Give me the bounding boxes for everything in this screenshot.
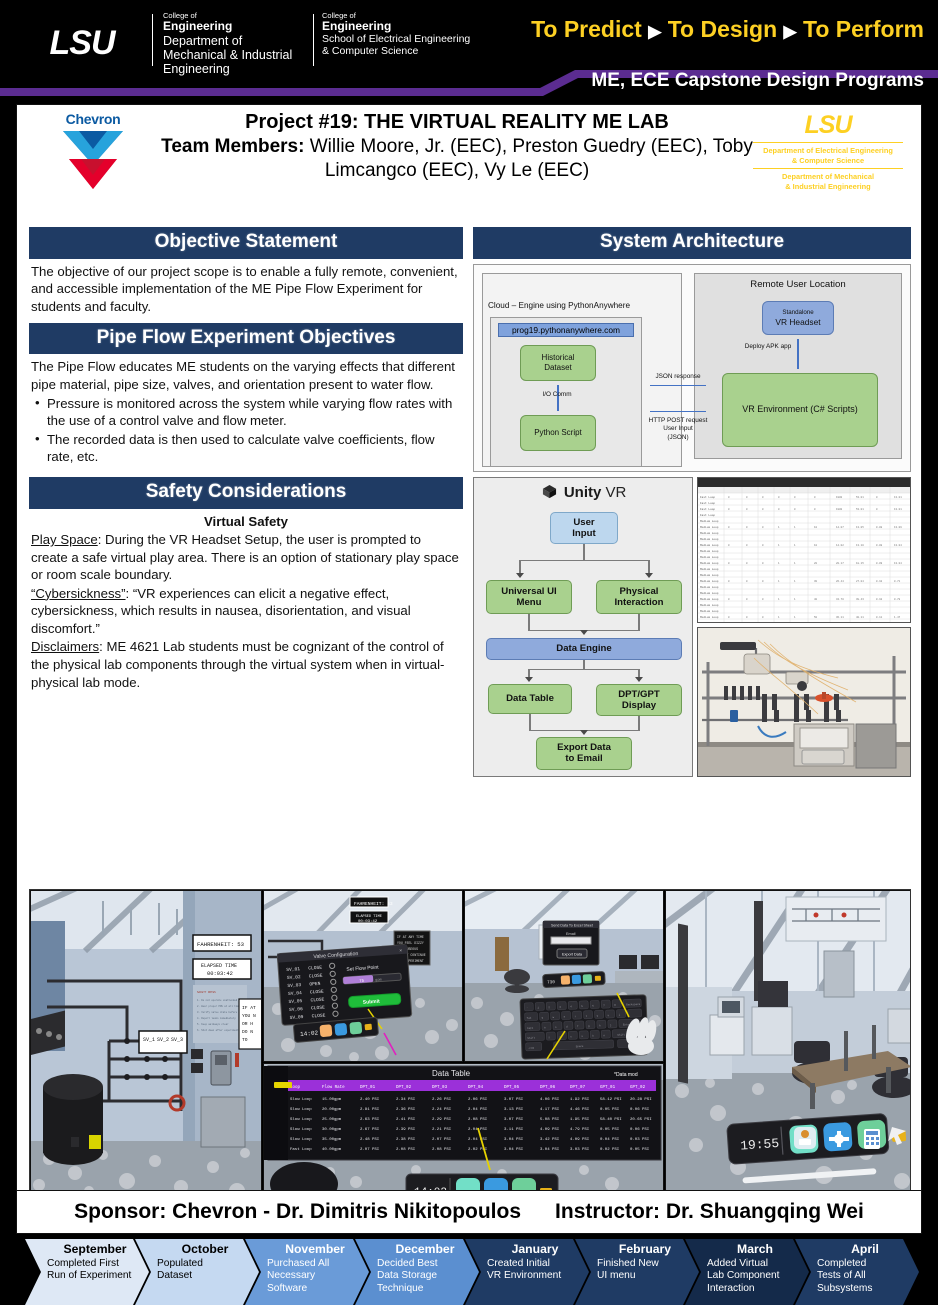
svg-text:IF AT: IF AT (242, 1005, 256, 1011)
page-title: Project #19: THE VIRTUAL REALITY ME LAB (157, 110, 757, 134)
svg-text:13.05: 13.05 (856, 526, 864, 529)
svg-text:0.10: 0.10 (876, 598, 883, 601)
vr-data-table-title: Data Table (432, 1069, 471, 1078)
lsu-logo-unit-me: Department of Mechanical & Industrial En… (753, 168, 903, 191)
objective-body: The objective of our project scope is to… (29, 259, 463, 323)
svg-text:20.00gpm: 20.00gpm (322, 1108, 342, 1112)
svg-text:DPT_03: DPT_03 (432, 1086, 448, 1090)
svg-text:Slow Loop: Slow Loop (290, 1107, 312, 1112)
svg-text:DPT_01: DPT_01 (360, 1086, 376, 1090)
dept2-line3: School of Electrical Engineering (322, 34, 522, 46)
dept2-line2: Engineering (322, 20, 522, 33)
flow-node-user-input: User Input (550, 512, 618, 544)
svg-text:2.41 PSI: 2.41 PSI (396, 1118, 415, 1122)
svg-text:SV_03: SV_03 (287, 982, 301, 989)
lsu-ece-line2: & Computer Science (753, 156, 903, 166)
svg-text:SV_04: SV_04 (288, 990, 302, 997)
svg-text:2.36 PSI: 2.36 PSI (396, 1108, 415, 1112)
svg-text:0.71: 0.71 (894, 580, 901, 583)
svg-text:ELAPSED TIME: ELAPSED TIME (356, 915, 382, 919)
timeline-step-september: September Completed First Run of Experim… (25, 1239, 149, 1305)
tagline-predict: To Predict (531, 16, 642, 42)
svg-text:Medium Loop: Medium Loop (700, 567, 719, 571)
unity-cube-icon (542, 484, 557, 499)
svg-text:3.07 PSI: 3.07 PSI (504, 1098, 523, 1102)
flow-line-3 (519, 560, 521, 574)
svg-text:730: 730 (547, 980, 556, 985)
timeline-step-april: April Completed Tests of All Subsystems (795, 1239, 919, 1305)
section-heading-objective: Objective Statement (29, 227, 463, 259)
capstone-programs-label: ME, ECE Capstone Design Programs (591, 70, 924, 92)
svg-text:SAFETY NOTES: SAFETY NOTES (197, 991, 216, 994)
svg-text:1900: 1900 (836, 496, 843, 499)
svg-text:00:03:42: 00:03:42 (358, 920, 378, 924)
safety-item-playspace: Play Space: During the VR Headset Setup,… (31, 531, 461, 584)
svg-text:Fast Loop: Fast Loop (700, 514, 715, 517)
pipeflow-bullet-list: Pressure is monitored across the system … (31, 395, 461, 466)
json-response-label: JSON response (646, 373, 710, 381)
svg-text:14.02: 14.02 (836, 544, 844, 547)
svg-text:27.04: 27.04 (856, 580, 864, 583)
svg-text:4. Report leaks immediately: 4. Report leaks immediately (197, 1017, 236, 1020)
svg-text:SV_3: SV_3 (171, 1037, 183, 1043)
safety-item-cybersickness: “Cybersickness”: “VR experiences can eli… (31, 585, 461, 638)
flow-arrow-2 (645, 573, 653, 578)
safety-term-disclaimers: Disclaimers (31, 639, 99, 654)
svg-text:4.06 PSI: 4.06 PSI (540, 1098, 559, 1102)
svg-text:30: 30 (814, 580, 818, 583)
svg-text:14.07: 14.07 (836, 526, 844, 529)
svg-text:40.11: 40.11 (856, 616, 864, 619)
svg-text:.com: .com (528, 1047, 535, 1050)
svg-text:0.05 PSI: 0.05 PSI (600, 1128, 619, 1132)
svg-text:13.01: 13.01 (894, 508, 902, 511)
svg-text:OPEN: OPEN (309, 981, 321, 988)
headset-sub-label: Standalone (782, 309, 813, 317)
svg-text:Shift: Shift (617, 1032, 625, 1036)
svg-text:OR H: OR H (242, 1021, 253, 1027)
svg-text:20.28 PSI: 20.28 PSI (630, 1098, 652, 1102)
tagline: To Predict ▶ To Design ▶ To Perform (531, 16, 924, 43)
svg-text:75: 75 (359, 980, 365, 984)
flow-arrow-4 (525, 677, 533, 682)
dept1-line2: Engineering (163, 20, 343, 33)
list-item: Pressure is monitored across the system … (31, 395, 461, 430)
chevron-right-icon-2: ▶ (784, 22, 797, 41)
svg-text:0.10: 0.10 (876, 580, 883, 583)
svg-text:CLOSE: CLOSE (310, 996, 324, 1003)
list-item: The recorded data is then used to calcul… (31, 431, 461, 466)
svg-text:Medium Loop: Medium Loop (700, 591, 719, 595)
headset-label: VR Headset (775, 317, 820, 328)
timeline-detail: Populated Dataset (157, 1258, 253, 1284)
svg-text:Medium Loop: Medium Loop (700, 609, 719, 613)
dept-mechanical-block: College of Engineering Department of Mec… (163, 12, 343, 76)
spreadsheet-graphic: Fast LoopFast Loop Fast LoopFast Loop Me… (698, 478, 911, 623)
lsu-logo-mark: LSU (753, 113, 903, 138)
svg-text:1. Do not operate unattended: 1. Do not operate unattended (197, 999, 238, 1002)
svg-text:Medium Loop: Medium Loop (700, 519, 719, 523)
flow-arrow-6 (580, 730, 588, 735)
svg-text:20: 20 (814, 562, 818, 565)
vr-screenshot-office-view: 19:55 (665, 890, 911, 1231)
svg-text:Caps: Caps (527, 1027, 534, 1030)
svg-text:×: × (399, 948, 402, 954)
svg-text:Medium Loop: Medium Loop (700, 603, 719, 607)
node-python-script: Python Script (520, 415, 596, 451)
svg-text:Medium Loop: Medium Loop (700, 585, 719, 589)
svg-text:CLOSE: CLOSE (310, 989, 324, 996)
svg-text:DPT_04: DPT_04 (468, 1086, 484, 1090)
svg-text:Fast Loop: Fast Loop (290, 1148, 312, 1152)
banner-divider-1 (152, 14, 153, 66)
flow-arrow-3 (580, 630, 588, 635)
flow-line-2 (519, 560, 649, 562)
remote-user-location-label: Remote User Location (694, 279, 902, 290)
svg-text:Fast Loop: Fast Loop (700, 502, 715, 505)
export-dialog-title: Send Data To Excel Sheet (551, 924, 593, 928)
svg-text:Medium Loop: Medium Loop (700, 561, 719, 565)
project-title-block: Project #19: THE VIRTUAL REALITY ME LAB … (157, 110, 757, 182)
svg-text:00:03:42: 00:03:42 (207, 971, 233, 977)
svg-text:38.43: 38.43 (856, 598, 864, 601)
system-architecture-diagram: Cloud – Engine using PythonAnywhere prog… (473, 264, 911, 472)
svg-text:Slow Loop: Slow Loop (290, 1097, 312, 1102)
svg-text:2.29 PSI: 2.29 PSI (432, 1118, 451, 1122)
section-heading-safety: Safety Considerations (29, 477, 463, 509)
svg-text:10: 10 (814, 526, 818, 529)
svg-text:26.44: 26.44 (836, 580, 844, 583)
svg-text:5.08 PSI: 5.08 PSI (540, 1118, 559, 1122)
vr-screenshot-export-email: Send Data To Excel Sheet Email Export Da… (464, 890, 664, 1062)
lsu-wordmark-banner: LSU (22, 22, 142, 64)
flow-line-12 (529, 714, 531, 731)
team-members-names: Willie Moore, Jr. (EEC), Preston Guedry … (310, 136, 753, 181)
svg-text:2.08 PSI: 2.08 PSI (468, 1118, 487, 1122)
safety-body: Virtual Safety Play Space: During the VR… (29, 509, 463, 698)
svg-text:2.26 PSI: 2.26 PSI (432, 1098, 451, 1102)
svg-text:40: 40 (814, 598, 818, 601)
svg-text:0.04 PSI: 0.04 PSI (600, 1138, 619, 1142)
flow-node-data-engine: Data Engine (486, 638, 682, 660)
flow-line-5 (528, 614, 530, 631)
flow-line-9 (528, 669, 640, 671)
svg-text:10: 10 (814, 544, 818, 547)
deploy-arrow-line (797, 339, 799, 369)
svg-text:2.07 PSI: 2.07 PSI (360, 1148, 379, 1152)
svg-text:1.92 PSI: 1.92 PSI (570, 1098, 589, 1102)
dept-electrical-block: College of Engineering School of Electri… (322, 12, 522, 57)
svg-text:34.70: 34.70 (836, 598, 844, 601)
section-heading-pipeflow: Pipe Flow Experiment Objectives (29, 323, 463, 355)
cloud-zone-label: Cloud – Engine using PythonAnywhere (488, 301, 630, 310)
unity-title-bold: Unity (564, 484, 602, 501)
svg-text:4.09 PSI: 4.09 PSI (540, 1128, 559, 1132)
unity-title-light: VR (606, 484, 627, 501)
svg-text:53.01: 53.01 (856, 496, 864, 499)
vr-screenshot-gallery: SV_1SV_2SV_3 FAHRENHEIT: 53 ELAPSED TIME… (29, 889, 911, 1231)
node-historical-dataset: Historical Dataset (520, 345, 596, 381)
svg-text:2.07 PSI: 2.07 PSI (432, 1138, 451, 1142)
svg-text:0.08: 0.08 (876, 544, 883, 547)
poster-header-row: Chevron Project #19: THE VIRTUAL REALITY… (17, 105, 921, 209)
chevron-logo: Chevron (47, 111, 139, 203)
timeline-step-january: January Created Initial VR Environment (465, 1239, 589, 1305)
chevron-right-icon-1: ▶ (648, 22, 661, 41)
svg-text:gpm: gpm (375, 978, 382, 982)
svg-text:DPT_07: DPT_07 (570, 1086, 586, 1090)
svg-text:4.09 PSI: 4.09 PSI (570, 1138, 589, 1142)
svg-text:13.01: 13.01 (894, 496, 902, 499)
dept1-line3: Department of (163, 34, 343, 48)
flow-arrow-1 (516, 573, 524, 578)
svg-text:5. Keep walkways clear: 5. Keep walkways clear (197, 1023, 229, 1026)
lsu-me-line1: Department of Mechanical (753, 172, 903, 182)
svg-text:13.04: 13.04 (894, 562, 902, 565)
svg-text:YOU N: YOU N (242, 1013, 256, 1019)
flow-node-dpt-gpt-display: DPT/GPT Display (596, 684, 682, 716)
svg-text:Space: Space (576, 1045, 584, 1048)
svg-text:1.47: 1.47 (894, 616, 901, 619)
node-vr-headset: Standalone VR Headset (762, 301, 834, 335)
svg-text:DPT_06: DPT_06 (540, 1086, 556, 1090)
svg-text:2.08 PSI: 2.08 PSI (432, 1148, 451, 1152)
io-comm-label: I/O Comm (524, 391, 590, 399)
pipeflow-body: The Pipe Flow educates ME students on th… (29, 354, 463, 472)
svg-text:30.00gpm: 30.00gpm (322, 1128, 342, 1132)
physical-lab-photograph (697, 627, 911, 777)
safety-item-disclaimers: Disclaimers: ME 4621 Lab students must b… (31, 638, 461, 691)
svg-text:2. Wear proper PPE at all time: 2. Wear proper PPE at all times (197, 1005, 242, 1008)
svg-text:35.00gpm: 35.00gpm (322, 1138, 342, 1142)
svg-text:SV_1: SV_1 (143, 1037, 155, 1043)
flow-line-6 (638, 614, 640, 631)
vr-watch-time-5: 19:55 (740, 1136, 780, 1154)
right-column: System Architecture Cloud – Engine using… (473, 227, 911, 777)
flow-node-physical-interaction: Physical Interaction (596, 580, 682, 614)
safety-term-playspace: Play Space (31, 532, 98, 547)
chevron-logo-text: Chevron (47, 111, 139, 127)
vr-office-view-graphic: 19:55 (666, 891, 911, 1231)
deploy-apk-label: Deploy APK app (742, 343, 794, 351)
svg-text:2.38 PSI: 2.38 PSI (396, 1138, 415, 1142)
safety-subheading: Virtual Safety (31, 513, 461, 531)
svg-text:0.05 PSI: 0.05 PSI (600, 1108, 619, 1112)
dept2-line4: & Computer Science (322, 46, 522, 58)
svg-text:2.08 PSI: 2.08 PSI (396, 1148, 415, 1152)
svg-text:SV_06: SV_06 (289, 1006, 303, 1013)
svg-text:GPT_01: GPT_01 (600, 1086, 616, 1090)
svg-text:YOU FEEL DIZZY: YOU FEEL DIZZY (397, 941, 424, 945)
flow-arrow-5 (635, 677, 643, 682)
svg-text:Medium Loop: Medium Loop (700, 531, 719, 535)
svg-text:SV_01: SV_01 (286, 966, 300, 973)
svg-text:0.09: 0.09 (876, 562, 883, 565)
svg-text:2.21 PSI: 2.21 PSI (432, 1128, 451, 1132)
svg-text:18.15: 18.15 (856, 562, 864, 565)
svg-text:2.39 PSI: 2.39 PSI (396, 1128, 415, 1132)
svg-text:3.04 PSI: 3.04 PSI (504, 1148, 523, 1152)
timeline-step-february: February Finished New UI menu (575, 1239, 699, 1305)
svg-text:4.17 PSI: 4.17 PSI (540, 1108, 559, 1112)
svg-text:CLOSE: CLOSE (309, 973, 323, 980)
svg-text:0.78: 0.78 (894, 598, 901, 601)
svg-text:2.40 PSI: 2.40 PSI (360, 1098, 379, 1102)
svg-text:DPT_02: DPT_02 (396, 1086, 412, 1090)
flow-line-4 (648, 560, 650, 574)
svg-text:Slow Loop: Slow Loop (290, 1127, 312, 1132)
svg-text:50: 50 (814, 616, 818, 619)
svg-text:Medium Loop: Medium Loop (700, 543, 719, 547)
email-field-label: Email (566, 932, 576, 936)
project-timeline: September Completed First Run of Experim… (25, 1239, 915, 1305)
svg-text:SV_09: SV_09 (289, 1014, 303, 1021)
timeline-detail: Purchased All Necessary Software (267, 1258, 363, 1296)
url-bar: prog19.pythonanywhere.com (498, 323, 634, 337)
svg-text:Slow Loop: Slow Loop (290, 1137, 312, 1142)
svg-text:Medium Loop: Medium Loop (700, 615, 719, 619)
svg-text:15.00gpm: 15.00gpm (322, 1098, 342, 1102)
svg-text:0.08: 0.08 (876, 526, 883, 529)
svg-text:Backspace: Backspace (626, 1002, 641, 1007)
node-vr-environment: VR Environment (C# Scripts) (722, 373, 878, 447)
tagline-design: To Design (668, 16, 777, 42)
svg-text:3.11 PSI: 3.11 PSI (504, 1128, 523, 1132)
svg-text:0.03 PSI: 0.03 PSI (630, 1138, 649, 1142)
vr-screenshot-valve-config: FAHRENHEIT: 53 ELAPSED TIME 00:03:42 IF … (263, 890, 463, 1062)
vr-lab-room-graphic: SV_1SV_2SV_3 FAHRENHEIT: 53 ELAPSED TIME… (31, 891, 262, 1231)
timeline-step-november: November Purchased All Necessary Softwar… (245, 1239, 369, 1305)
timeline-detail: Finished New UI menu (597, 1258, 693, 1284)
vr-export-email-graphic: Send Data To Excel Sheet Email Export Da… (465, 891, 664, 1062)
http-post-label: HTTP POST request User Input (JSON) (642, 417, 714, 442)
lsu-logo-unit-ece: Department of Electrical Engineering & C… (753, 142, 903, 165)
poster-footer: Sponsor: Chevron - Dr. Dimitris Nikitopo… (16, 1190, 922, 1234)
svg-text:CLOSE: CLOSE (311, 1004, 325, 1011)
svg-text:4.46 PSI: 4.46 PSI (570, 1108, 589, 1112)
timeline-detail: Created Initial VR Environment (487, 1258, 583, 1284)
unity-flow-diagram: Unity VR User Input Universal UI Menu Ph… (473, 477, 693, 777)
svg-text:2.06 PSI: 2.06 PSI (468, 1098, 487, 1102)
flow-and-images-row: Unity VR User Input Universal UI Menu Ph… (473, 477, 911, 777)
svg-text:Medium Loop: Medium Loop (700, 573, 719, 577)
svg-text:58.40 PSI: 58.40 PSI (600, 1118, 622, 1122)
svg-text:Medium Loop: Medium Loop (700, 525, 719, 529)
timeline-detail: Decided Best Data Storage Technique (377, 1258, 473, 1296)
lsu-me-line2: & Industrial Engineering (753, 182, 903, 192)
svg-text:0.02 PSI: 0.02 PSI (600, 1148, 619, 1152)
svg-text:2.34 PSI: 2.34 PSI (396, 1098, 415, 1102)
left-column: Objective Statement The objective of our… (29, 227, 463, 698)
svg-text:CLOSE: CLOSE (308, 965, 322, 972)
svg-text:2.67 PSI: 2.67 PSI (360, 1128, 379, 1132)
lab-photo-graphic (698, 628, 911, 777)
export-data-button-label: Export Data (562, 953, 583, 957)
svg-text:Medium Loop: Medium Loop (700, 579, 719, 583)
unity-vr-title: Unity VR (474, 484, 694, 501)
lsu-ece-line1: Department of Electrical Engineering (753, 146, 903, 156)
svg-text:CLOSE: CLOSE (311, 1012, 325, 1019)
svg-text:SV_05: SV_05 (288, 998, 302, 1005)
svg-text:1900: 1900 (836, 508, 843, 511)
svg-text:IF AT ANY TIME: IF AT ANY TIME (397, 935, 424, 939)
svg-text:Medium Loop: Medium Loop (700, 597, 719, 601)
svg-text:*Data mod: *Data mod (614, 1072, 638, 1078)
json-response-line (650, 385, 706, 387)
flow-line-13 (638, 716, 640, 731)
timeline-detail: Completed First Run of Experiment (47, 1258, 143, 1284)
svg-text:Slow Loop: Slow Loop (290, 1117, 312, 1122)
svg-text:TO: TO (242, 1037, 248, 1043)
flow-line-1 (583, 544, 585, 560)
svg-text:FAHRENHEIT: 53: FAHRENHEIT: 53 (354, 901, 393, 907)
timeline-detail: Added Virtual Lab Component Interaction (707, 1258, 803, 1296)
banner-divider-2 (313, 14, 314, 66)
svg-text:20.17: 20.17 (836, 562, 844, 565)
svg-text:25.00gpm: 25.00gpm (322, 1118, 342, 1122)
svg-text:20.65 PSI: 20.65 PSI (630, 1118, 652, 1122)
poster-columns: Objective Statement The objective of our… (17, 209, 923, 1227)
svg-text:2.24 PSI: 2.24 PSI (432, 1108, 451, 1112)
lsu-college-logo: LSU Department of Electrical Engineering… (753, 113, 903, 192)
svg-text:3.13 PSI: 3.13 PSI (504, 1108, 523, 1112)
svg-text:ELAPSED TIME: ELAPSED TIME (201, 963, 237, 969)
svg-text:3.04 PSI: 3.04 PSI (504, 1138, 523, 1142)
flow-node-ui-menu: Universal UI Menu (486, 580, 572, 614)
flow-node-data-table: Data Table (488, 684, 572, 714)
svg-text:6. Shut down after experiment: 6. Shut down after experiment (197, 1029, 239, 1032)
vr-fahrenheit-label: FAHRENHEIT: 53 (197, 941, 244, 948)
svg-text:40.00gpm: 40.00gpm (322, 1148, 342, 1152)
svg-text:3.03 PSI: 3.03 PSI (570, 1148, 589, 1152)
svg-text:Shift: Shift (527, 1036, 535, 1040)
svg-text:GPT_02: GPT_02 (630, 1086, 646, 1090)
dataset-spreadsheet-image: Fast LoopFast Loop Fast LoopFast Loop Me… (697, 477, 911, 623)
svg-text:Tab: Tab (527, 1016, 532, 1020)
svg-text:SV_02: SV_02 (287, 974, 301, 981)
svg-text:Medium Loop: Medium Loop (700, 555, 719, 559)
chevron-logo-shape (47, 129, 139, 203)
svg-text:1.95 PSI: 1.95 PSI (570, 1118, 589, 1122)
vr-valve-config-graphic: FAHRENHEIT: 53 ELAPSED TIME 00:03:42 IF … (264, 891, 463, 1062)
svg-text:13.09: 13.09 (894, 526, 902, 529)
svg-text:3. Verify valve state before r: 3. Verify valve state before run (197, 1011, 243, 1014)
svg-text:0.11: 0.11 (876, 616, 883, 619)
svg-text:0.05 PSI: 0.05 PSI (630, 1148, 649, 1152)
svg-text:SV_2: SV_2 (157, 1037, 169, 1043)
timeline-step-december: December Decided Best Data Storage Techn… (355, 1239, 479, 1305)
team-members-line: Team Members: Willie Moore, Jr. (EEC), P… (157, 135, 757, 182)
svg-text:Fast Loop: Fast Loop (700, 508, 715, 511)
top-banner: LSU College of Engineering Department of… (0, 0, 938, 100)
svg-text:Fast Loop: Fast Loop (700, 496, 715, 499)
safety-term-cybersickness: “Cybersickness” (31, 586, 126, 601)
svg-text:3.07 PSI: 3.07 PSI (504, 1118, 523, 1122)
svg-text:53.01: 53.01 (856, 508, 864, 511)
svg-text:Medium Loop: Medium Loop (700, 537, 719, 541)
vr-screenshot-lab-room: SV_1SV_2SV_3 FAHRENHEIT: 53 ELAPSED TIME… (30, 890, 262, 1231)
objective-text: The objective of our project scope is to… (31, 263, 461, 316)
svg-text:3.42 PSI: 3.42 PSI (540, 1138, 559, 1142)
poster-body: Chevron Project #19: THE VIRTUAL REALITY… (16, 104, 922, 1226)
http-post-line (650, 411, 706, 413)
svg-text:2.63 PSI: 2.63 PSI (360, 1118, 379, 1122)
svg-text:0.06 PSI: 0.06 PSI (630, 1128, 649, 1132)
svg-text:13.10: 13.10 (856, 544, 864, 547)
svg-text:2.81 PSI: 2.81 PSI (360, 1108, 379, 1112)
svg-text:Medium Loop: Medium Loop (700, 549, 719, 553)
timeline-step-march: March Added Virtual Lab Component Intera… (685, 1239, 809, 1305)
